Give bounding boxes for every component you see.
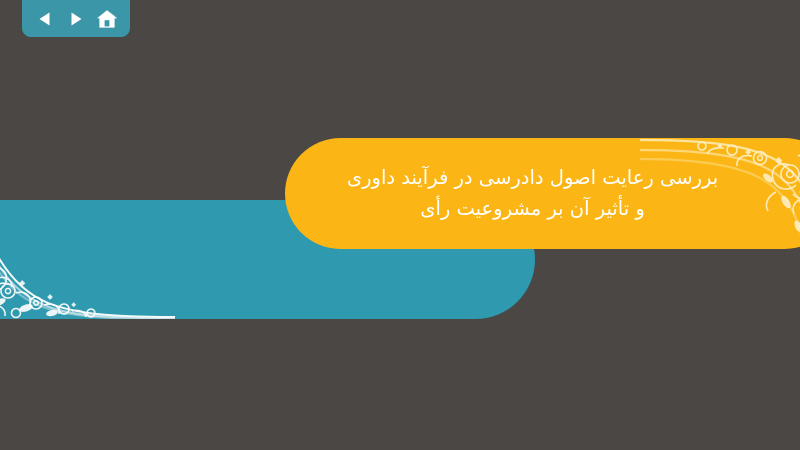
triangle-left-icon bbox=[36, 10, 54, 28]
previous-button[interactable] bbox=[32, 6, 58, 32]
title-line-1: بررسی رعایت اصول دادرسی در فرآیند داوری bbox=[347, 163, 718, 193]
home-icon bbox=[96, 9, 118, 29]
presentation-title: بررسی رعایت اصول دادرسی در فرآیند داوری … bbox=[285, 138, 780, 249]
navigation-bar bbox=[22, 0, 130, 37]
triangle-right-icon bbox=[67, 10, 85, 28]
title-line-2: و تأثیر آن بر مشروعیت رأی bbox=[420, 194, 645, 224]
arabesque-ornament-icon-left bbox=[0, 209, 175, 319]
next-button[interactable] bbox=[63, 6, 89, 32]
slide-canvas: بررسی رعایت اصول دادرسی در فرآیند داوری … bbox=[0, 0, 800, 450]
home-button[interactable] bbox=[94, 6, 120, 32]
title-banner: بررسی رعایت اصول دادرسی در فرآیند داوری … bbox=[285, 138, 800, 249]
